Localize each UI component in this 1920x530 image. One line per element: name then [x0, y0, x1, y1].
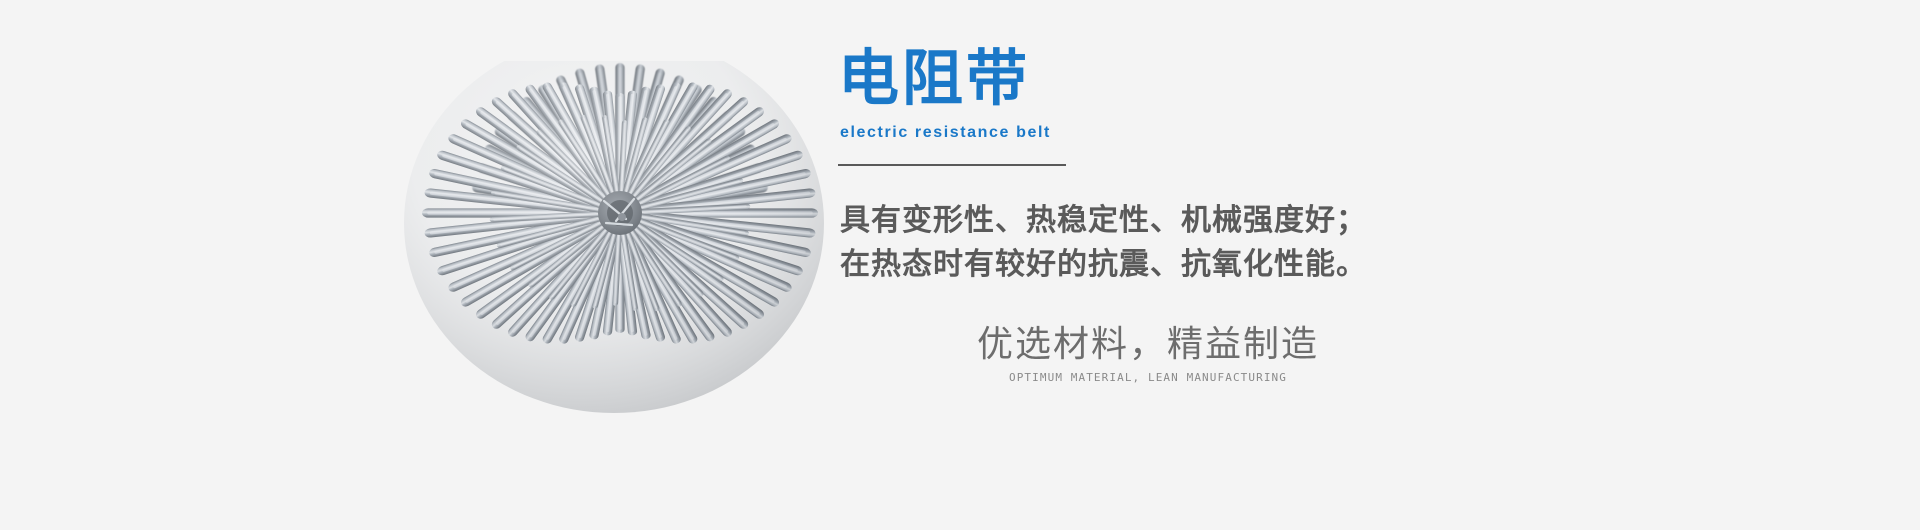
resistance-belt-illustration — [395, 61, 845, 461]
page-title: 电阻带 — [838, 44, 1066, 114]
slogan-group: 优选材料，精益制造 OPTIMUM MATERIAL, LEAN MANUFAC… — [948, 322, 1348, 385]
product-banner: 电阻带 electric resistance belt 具有变形性、热稳定性、… — [0, 0, 1920, 530]
slogan-chinese: 优选材料，精益制造 — [948, 322, 1348, 368]
slogan-english: OPTIMUM MATERIAL, LEAN MANUFACTURING — [948, 371, 1348, 385]
title-group: 电阻带 electric resistance belt — [838, 44, 1066, 166]
description-group: 具有变形性、热稳定性、机械强度好； 在热态时有较好的抗震、抗氧化性能。 — [840, 199, 1540, 287]
belt-main-layer — [404, 61, 824, 413]
page-subtitle: electric resistance belt — [840, 123, 1066, 143]
description-line-1: 具有变形性、热稳定性、机械强度好； — [840, 199, 1540, 243]
title-divider — [838, 164, 1066, 166]
banner-copy: 电阻带 electric resistance belt 具有变形性、热稳定性、… — [838, 44, 1858, 504]
product-image — [395, 61, 845, 461]
description-line-2: 在热态时有较好的抗震、抗氧化性能。 — [840, 243, 1540, 287]
